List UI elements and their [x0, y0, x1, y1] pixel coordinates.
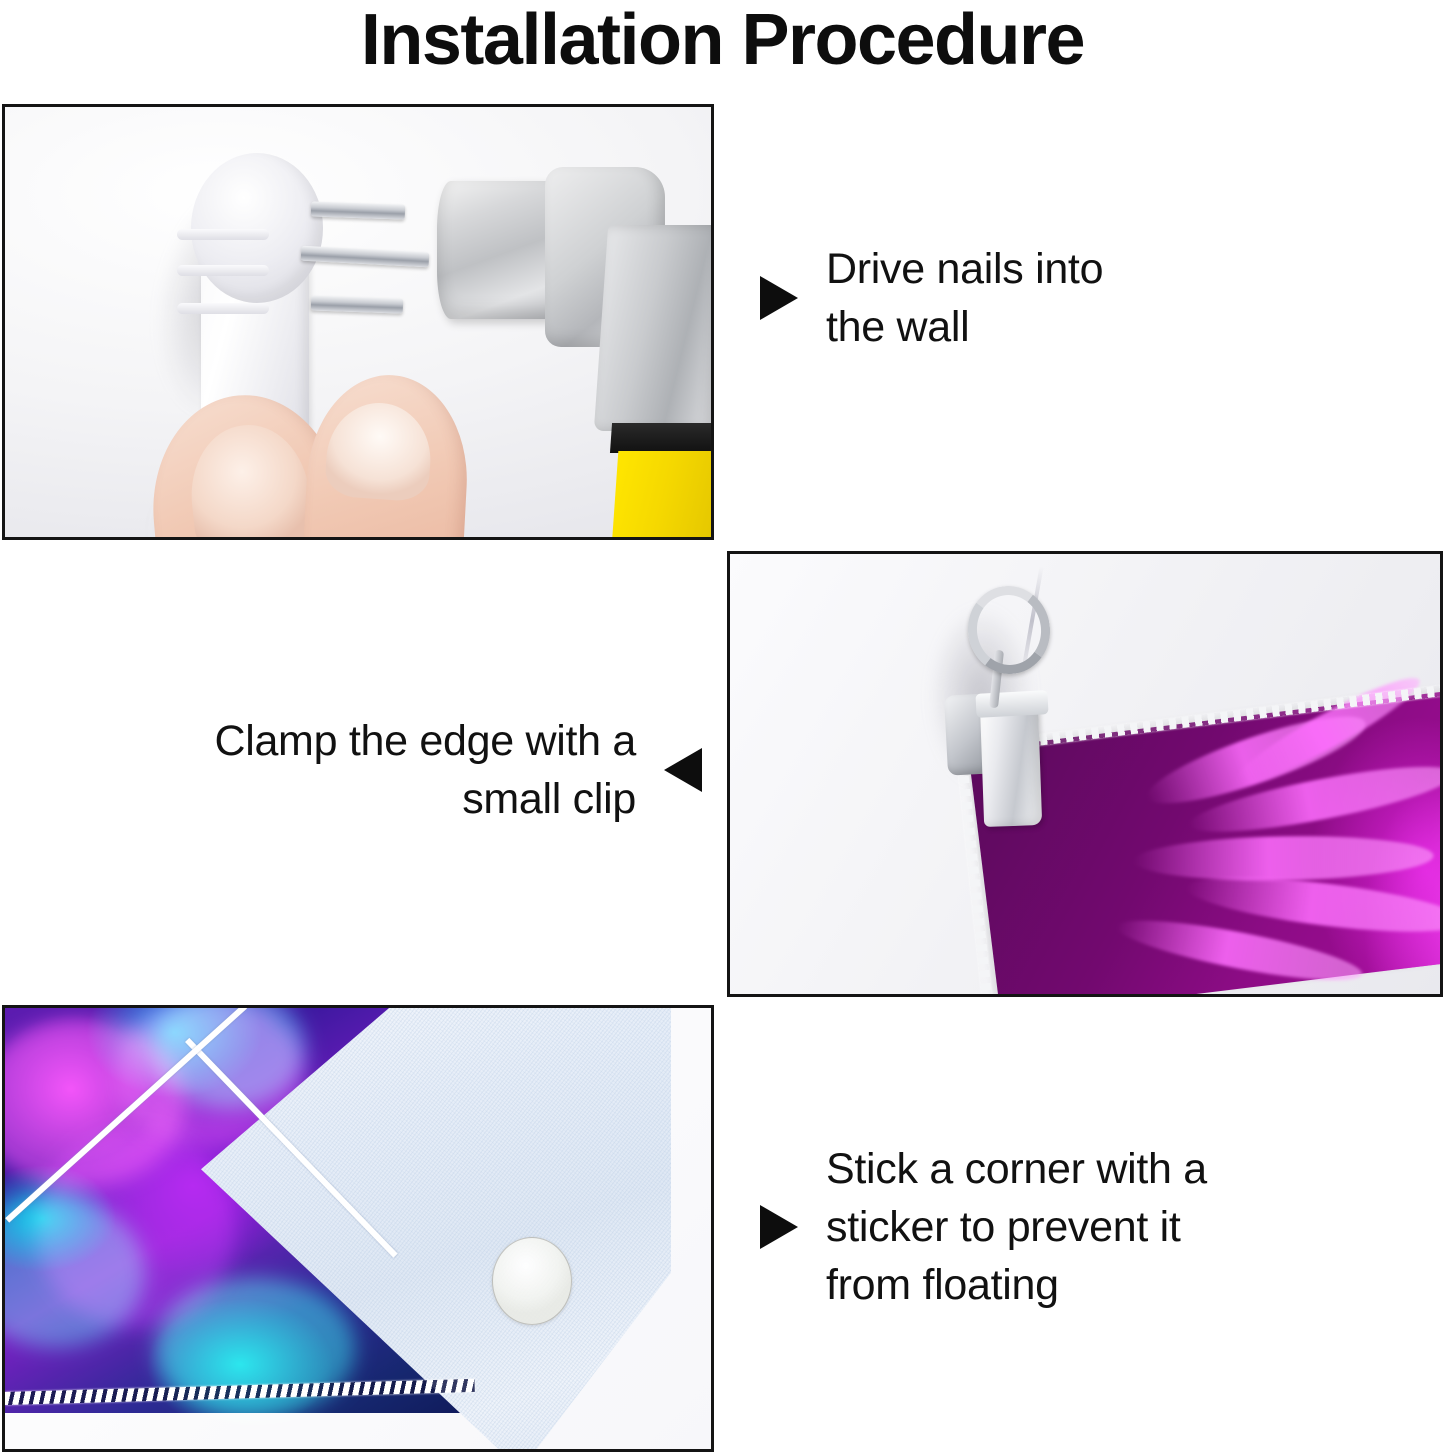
- clip-jaw-top: [975, 690, 1048, 718]
- wall-hook-ridge: [177, 265, 269, 276]
- step-caption-drive-nails: Drive nails into the wall: [760, 240, 1320, 356]
- step-text: Clamp the edge with a small clip: [214, 712, 636, 828]
- tapestry-petal: [1133, 834, 1434, 883]
- wall-hook-ridge: [177, 229, 269, 240]
- page-title: Installation Procedure: [0, 0, 1445, 86]
- step-text: Drive nails into the wall: [826, 240, 1103, 356]
- step-photo-drive-nails: [2, 104, 714, 540]
- hammer-collar: [610, 423, 714, 453]
- wall-hook-ridge: [177, 303, 269, 314]
- wall-hook-head: [191, 153, 323, 303]
- triangle-left-icon: [664, 748, 702, 792]
- adhesive-sticker: [492, 1237, 572, 1325]
- step-text: Stick a corner with a sticker to prevent…: [826, 1140, 1207, 1314]
- step-caption-stick-corner: Stick a corner with a sticker to prevent…: [760, 1140, 1380, 1314]
- triangle-right-icon: [760, 1205, 798, 1249]
- step-caption-clamp-edge: Clamp the edge with a small clip: [62, 712, 702, 828]
- step-photo-clamp-edge: [727, 551, 1443, 997]
- hammer-shaft: [594, 225, 714, 431]
- clip-jaw: [980, 699, 1042, 827]
- hammer-grip: [612, 451, 714, 540]
- triangle-right-icon: [760, 276, 798, 320]
- tapestry-swirl: [35, 1128, 235, 1328]
- nail: [311, 295, 403, 313]
- step-photo-stick-corner: [2, 1005, 714, 1452]
